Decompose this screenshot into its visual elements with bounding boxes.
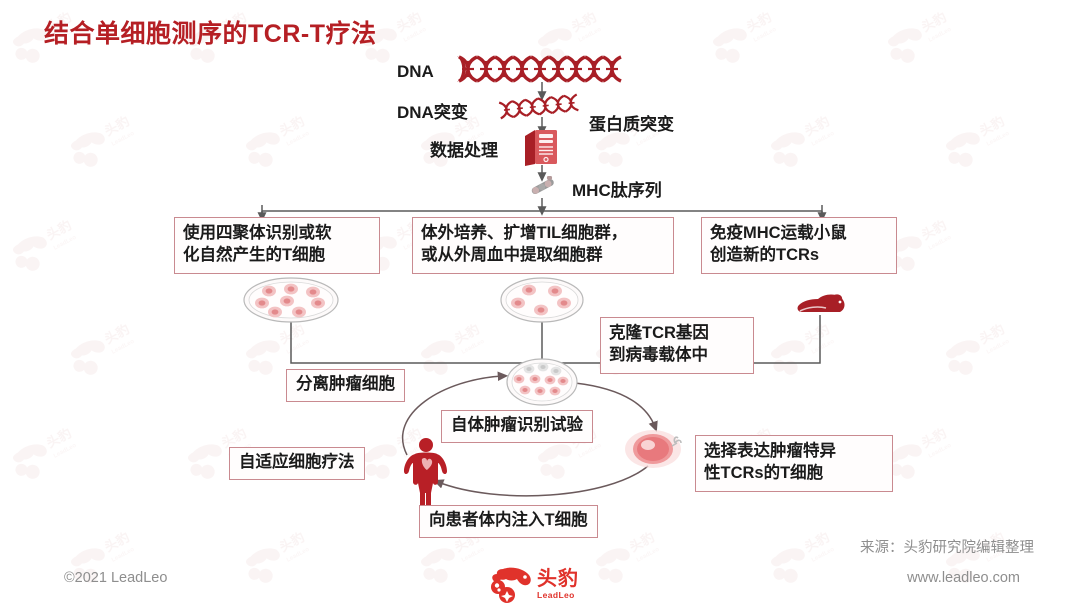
svg-text:LeadLeo: LeadLeo xyxy=(53,235,78,252)
svg-text:头豹: 头豹 xyxy=(977,113,1007,138)
petri-dish-middle-icon xyxy=(499,276,585,329)
watermark-logo-icon: 头豹 LeadLeo xyxy=(5,211,89,281)
dna-label: DNA xyxy=(397,62,434,82)
svg-text:LeadLeo: LeadLeo xyxy=(578,443,603,460)
watermark-logo-icon: 头豹 LeadLeo xyxy=(763,523,847,593)
watermark-logo-icon: 头豹 LeadLeo xyxy=(63,107,147,177)
svg-text:头豹: 头豹 xyxy=(919,425,949,450)
svg-text:头豹: 头豹 xyxy=(977,321,1007,346)
watermark-logo-icon: 头豹 LeadLeo xyxy=(938,315,1022,385)
svg-text:头豹: 头豹 xyxy=(452,321,482,346)
svg-text:LeadLeo: LeadLeo xyxy=(928,443,953,460)
svg-text:LeadLeo: LeadLeo xyxy=(403,27,428,44)
watermark-logo-icon: 头豹 LeadLeo xyxy=(938,107,1022,177)
svg-text:头豹: 头豹 xyxy=(919,9,949,34)
svg-text:LeadLeo: LeadLeo xyxy=(286,339,311,356)
svg-text:头豹: 头豹 xyxy=(802,113,832,138)
dna-mutation-label: DNA突变 xyxy=(397,98,468,123)
svg-text:头豹: 头豹 xyxy=(919,217,949,242)
svg-text:头豹: 头豹 xyxy=(627,529,657,554)
svg-text:头豹: 头豹 xyxy=(277,529,307,554)
svg-text:LeadLeo: LeadLeo xyxy=(636,547,661,564)
svg-text:LeadLeo: LeadLeo xyxy=(811,339,836,356)
isolate-tumor-box[interactable]: 分离肿瘤细胞 xyxy=(286,369,405,402)
svg-text:LeadLeo: LeadLeo xyxy=(811,547,836,564)
svg-text:LeadLeo: LeadLeo xyxy=(461,339,486,356)
svg-text:头豹: 头豹 xyxy=(277,113,307,138)
watermark-logo-icon: 头豹 LeadLeo xyxy=(63,315,147,385)
human-body-icon xyxy=(403,437,449,514)
watermark-logo-icon: 头豹 LeadLeo xyxy=(588,523,672,593)
svg-text:LeadLeo: LeadLeo xyxy=(53,443,78,460)
protein-mutation-label: 蛋白质突变 xyxy=(589,110,674,135)
svg-text:头豹: 头豹 xyxy=(394,9,424,34)
clone-tcr-box[interactable]: 克隆TCR基因 到病毒载体中 xyxy=(600,317,754,374)
svg-text:头豹: 头豹 xyxy=(102,113,132,138)
dna-helix-icon xyxy=(455,54,635,89)
svg-text:LeadLeo: LeadLeo xyxy=(461,547,486,564)
svg-text:头豹: 头豹 xyxy=(102,321,132,346)
watermark-logo-icon: 头豹 LeadLeo xyxy=(763,107,847,177)
svg-text:LeadLeo: LeadLeo xyxy=(986,131,1011,148)
select-tcr-box[interactable]: 选择表达肿瘤特异 性TCRs的T细胞 xyxy=(695,435,893,492)
watermark-logo-icon: 头豹 LeadLeo xyxy=(238,523,322,593)
svg-text:LeadLeo: LeadLeo xyxy=(111,547,136,564)
mouse-icon xyxy=(796,290,848,323)
infuse-box[interactable]: 向患者体内注入T细胞 xyxy=(419,505,598,538)
svg-text:头豹: 头豹 xyxy=(44,425,74,450)
watermark-logo-icon: 头豹 LeadLeo xyxy=(413,315,497,385)
peptide-chain-icon xyxy=(528,176,558,203)
adaptive-therapy-box[interactable]: 自适应细胞疗法 xyxy=(229,447,365,480)
svg-text:LeadLeo: LeadLeo xyxy=(111,339,136,356)
svg-text:LeadLeo: LeadLeo xyxy=(811,131,836,148)
mhc-mouse-box[interactable]: 免疫MHC运载小鼠 创造新的TCRs xyxy=(701,217,897,274)
svg-text:头豹: 头豹 xyxy=(802,321,832,346)
svg-text:LeadLeo: LeadLeo xyxy=(286,131,311,148)
svg-text:LeadLeo: LeadLeo xyxy=(928,235,953,252)
watermark-logo-icon: 头豹 LeadLeo xyxy=(705,3,789,73)
server-icon xyxy=(523,128,561,173)
data-processing-label: 数据处理 xyxy=(430,136,498,161)
watermark-logo-icon: 头豹 LeadLeo xyxy=(5,419,89,489)
website-url[interactable]: www.leadleo.com xyxy=(907,570,1020,586)
dna-helix-small-icon xyxy=(496,91,590,125)
t-cell-icon xyxy=(623,425,689,478)
svg-text:头豹: 头豹 xyxy=(44,217,74,242)
mhc-label: MHC肽序列 xyxy=(572,176,662,201)
petri-dish-mixed-icon xyxy=(505,357,579,412)
svg-text:头豹: 头豹 xyxy=(569,9,599,34)
tetramer-box[interactable]: 使用四聚体识别或软 化自然产生的T细胞 xyxy=(174,217,380,274)
svg-text:LeadLeo: LeadLeo xyxy=(753,27,778,44)
svg-text:LeadLeo: LeadLeo xyxy=(986,339,1011,356)
svg-text:头豹: 头豹 xyxy=(802,529,832,554)
copyright-note: ©2021 LeadLeo xyxy=(64,570,167,586)
svg-text:LeadLeo: LeadLeo xyxy=(286,547,311,564)
watermark-logo-icon: 头豹 LeadLeo xyxy=(880,3,964,73)
svg-text:头豹: 头豹 xyxy=(102,529,132,554)
leadleo-logo-icon: 头豹 LeadLeo xyxy=(489,565,579,603)
watermark-logo-icon: 头豹 LeadLeo xyxy=(238,107,322,177)
autologous-test-box[interactable]: 自体肿瘤识别试验 xyxy=(441,410,593,443)
page-title: 结合单细胞测序的TCR-T疗法 xyxy=(44,14,376,50)
svg-text:LeadLeo: LeadLeo xyxy=(928,27,953,44)
svg-text:LeadLeo: LeadLeo xyxy=(578,27,603,44)
til-box[interactable]: 体外培养、扩增TIL细胞群， 或从外周血中提取细胞群 xyxy=(412,217,674,274)
source-note: 来源：头豹研究院编辑整理 xyxy=(860,536,1034,557)
petri-dish-icon xyxy=(242,276,340,329)
logo-en-text: LeadLeo xyxy=(537,591,579,600)
watermark-logo-icon: 头豹 LeadLeo xyxy=(763,315,847,385)
svg-text:LeadLeo: LeadLeo xyxy=(111,131,136,148)
logo-cn-text: 头豹 xyxy=(537,569,579,589)
svg-text:头豹: 头豹 xyxy=(744,9,774,34)
leopard-mark-icon xyxy=(489,565,533,603)
